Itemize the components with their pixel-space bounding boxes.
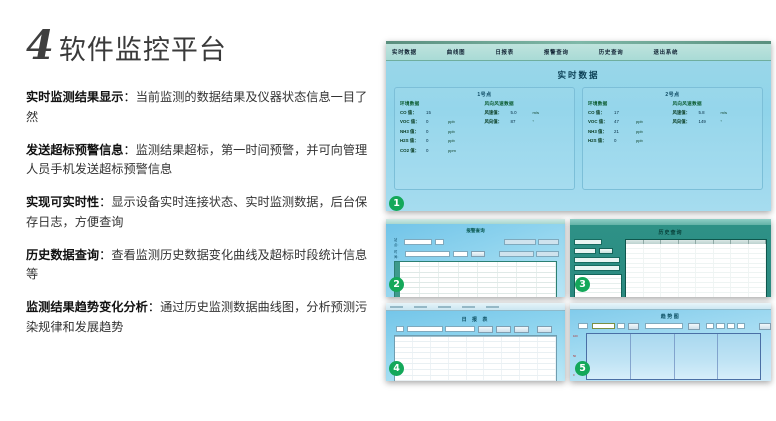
table-cell — [517, 283, 537, 287]
table-cell — [679, 273, 697, 277]
table-cell — [467, 370, 485, 375]
table-cell — [538, 364, 556, 369]
site-name: 2号点 — [588, 91, 757, 98]
table-cell — [749, 268, 767, 272]
data-value: 5.8 — [699, 110, 721, 115]
table-cell — [731, 278, 749, 282]
table-cell — [644, 264, 662, 268]
keyword-input[interactable] — [574, 265, 620, 271]
table-cell — [400, 273, 420, 277]
group-title: 风向风速数据 — [485, 101, 570, 107]
data-row: CO2 值： 0 ppm — [400, 148, 485, 154]
data-row: 风向值： 149 ° — [673, 119, 758, 125]
table-cell — [478, 267, 498, 271]
x-axis-tick: 00:00 — [627, 381, 634, 382]
table-cell — [714, 259, 732, 263]
mode-select[interactable] — [578, 323, 588, 329]
table-cell — [517, 294, 537, 297]
table-cell — [413, 364, 431, 369]
table-cell — [517, 288, 537, 292]
feature-term: 历史数据查询 — [26, 248, 99, 262]
table-cell — [696, 244, 714, 248]
table-cell — [749, 264, 767, 268]
table-cell — [626, 273, 644, 277]
table-cell — [413, 342, 431, 347]
data-unit: ppb — [636, 129, 643, 134]
table-cell — [467, 359, 485, 364]
screenshot-alarm-query[interactable]: 报警查询 站点： 时间： — [386, 219, 565, 297]
table-cell — [449, 342, 467, 347]
feature-item: 发送超标预警信息：监测结果超标，第一时间预警，并可向管理人员手机发送超标预警信息 — [26, 141, 369, 181]
x-axis-tick: 12:00 — [713, 381, 720, 382]
table-cell — [520, 342, 538, 347]
time-unit-select[interactable] — [453, 251, 469, 257]
data-value: 0 — [426, 148, 448, 153]
table-cell — [478, 294, 498, 297]
table-cell — [502, 353, 520, 358]
site-select[interactable] — [574, 239, 602, 245]
table-cell — [498, 283, 518, 287]
alarm-table[interactable] — [394, 261, 557, 297]
table-cell — [431, 364, 449, 369]
date-input[interactable] — [407, 326, 443, 332]
data-label: CO2 值： — [400, 148, 426, 154]
site-card: 2号点 环境数据 CO 值： 17 VOC 值： 47 ppb — [582, 87, 763, 190]
page-title: 4 软件监控平台 — [26, 26, 369, 66]
table-cell — [449, 348, 467, 353]
time-range-input[interactable] — [645, 323, 684, 329]
table-cell — [449, 359, 467, 364]
table-cell — [467, 364, 485, 369]
table-cell — [520, 353, 538, 358]
report-table[interactable] — [394, 335, 557, 381]
trend-chart-plot[interactable]: 100 50 0 00:00 06:00 12:00 18:00 — [586, 333, 761, 380]
table-cell — [413, 370, 431, 375]
series-toggle-1[interactable] — [706, 323, 714, 329]
export-button[interactable] — [496, 326, 511, 333]
table-cell — [502, 376, 520, 381]
table-cell — [644, 293, 662, 297]
data-row: H2S 值： 0 ppb — [588, 138, 673, 144]
data-label: NH3 值： — [400, 129, 426, 135]
menu-item-alarm-query[interactable]: 报警查询 — [544, 48, 569, 56]
close-button[interactable] — [537, 326, 552, 333]
table-cell — [626, 259, 644, 263]
section-number: 4 — [26, 26, 52, 66]
table-cell — [498, 267, 518, 271]
table-cell — [731, 288, 749, 292]
table-cell — [420, 273, 440, 277]
table-cell — [731, 293, 749, 297]
filter-field-b[interactable] — [538, 239, 559, 245]
table-cell — [400, 288, 420, 292]
data-value: 87 — [511, 119, 533, 124]
series-toggle-4[interactable] — [737, 323, 745, 329]
table-cell — [431, 376, 449, 381]
table-cell — [714, 293, 732, 297]
data-label: 风向值： — [673, 119, 699, 125]
table-cell — [661, 288, 679, 292]
data-unit: m/s — [721, 110, 727, 115]
table-cell — [439, 294, 459, 297]
table-cell — [420, 262, 440, 266]
table-cell — [467, 376, 485, 381]
menu-item-daily-report[interactable]: 日报表 — [495, 48, 514, 56]
data-unit: ppb — [448, 119, 455, 124]
data-value: 17 — [614, 110, 636, 115]
table-cell — [731, 268, 749, 272]
table-cell — [439, 288, 459, 292]
menu-item-placeholder-icon — [414, 306, 427, 308]
table-cell — [714, 249, 732, 253]
data-row: CO 值： 17 — [588, 110, 673, 116]
table-cell — [449, 353, 467, 358]
table-cell — [520, 376, 538, 381]
table-cell — [478, 273, 498, 277]
table-cell — [679, 293, 697, 297]
site-name: 1号点 — [400, 91, 569, 98]
table-cell — [714, 244, 732, 248]
table-cell — [644, 259, 662, 263]
table-cell — [498, 294, 518, 297]
query-button[interactable] — [478, 326, 493, 333]
table-cell — [420, 294, 440, 297]
group-title: 环境数据 — [588, 101, 673, 107]
table-cell — [714, 268, 732, 272]
table-cell — [431, 337, 449, 342]
report-type-checkbox[interactable] — [396, 326, 404, 332]
table-cell — [731, 244, 749, 248]
history-table[interactable] — [625, 239, 767, 297]
table-cell — [439, 262, 459, 266]
table-cell — [696, 259, 714, 263]
table-cell — [644, 278, 662, 282]
data-row: NH3 值： 21 ppb — [588, 129, 673, 135]
query-button[interactable] — [599, 248, 613, 255]
table-cell — [626, 288, 644, 292]
table-cell — [537, 267, 557, 271]
table-cell — [749, 259, 767, 263]
table-cell — [400, 262, 420, 266]
table-cell — [395, 348, 413, 353]
feature-separator: ： — [99, 195, 111, 209]
section-title: 软件监控平台 — [59, 37, 227, 64]
table-cell — [395, 376, 413, 381]
menu-item-placeholder-icon — [462, 306, 475, 308]
screenshot-gallery: 实时数据 曲线图 日报表 报警查询 历史查询 退出系统 实时数据 1号点 环境数… — [385, 0, 776, 421]
panel-title: 历史查询 — [570, 225, 771, 236]
table-cell — [431, 370, 449, 375]
refresh-button[interactable] — [628, 323, 639, 330]
screenshot-realtime-data[interactable]: 实时数据 曲线图 日报表 报警查询 历史查询 退出系统 实时数据 1号点 环境数… — [386, 41, 771, 211]
feature-separator: ： — [124, 90, 136, 104]
site-select[interactable] — [445, 326, 475, 332]
table-cell — [484, 342, 502, 347]
table-cell — [484, 364, 502, 369]
table-cell — [439, 273, 459, 277]
wind-data-group: 风向风速数据 风速值： 5.0 m/s 风向值： 87 ° — [485, 101, 570, 157]
table-cell — [749, 288, 767, 292]
table-cell — [696, 273, 714, 277]
table-cell — [731, 254, 749, 258]
table-cell — [498, 278, 518, 282]
table-cell — [537, 278, 557, 282]
data-value: 149 — [699, 119, 721, 124]
table-cell — [644, 288, 662, 292]
grid-line — [630, 334, 631, 379]
menu-bar[interactable] — [386, 219, 565, 224]
feature-term: 发送超标预警信息 — [26, 143, 124, 157]
data-label: H2S 值： — [400, 138, 426, 144]
table-cell — [395, 337, 413, 342]
table-cell — [626, 283, 644, 287]
data-unit: ppm — [448, 148, 456, 153]
table-cell — [420, 278, 440, 282]
table-cell — [679, 268, 697, 272]
table-cell — [502, 370, 520, 375]
site-select[interactable] — [592, 323, 615, 329]
data-value: 15 — [426, 110, 448, 115]
table-cell — [661, 293, 679, 297]
query-button[interactable] — [471, 251, 485, 258]
feature-item: 实时监测结果显示：当前监测的数据结果及仪器状态信息一目了然 — [26, 88, 369, 128]
export-button[interactable] — [759, 323, 771, 330]
table-cell — [538, 348, 556, 353]
menu-bar[interactable]: 实时数据 曲线图 日报表 报警查询 历史查询 退出系统 — [386, 44, 771, 61]
table-cell — [431, 342, 449, 347]
panel-title: 趋势图 — [570, 313, 771, 320]
data-value: 0 — [426, 138, 448, 143]
table-cell — [714, 273, 732, 277]
table-cell — [537, 273, 557, 277]
menu-item-placeholder-icon — [390, 306, 403, 308]
data-label: NH3 值： — [588, 129, 614, 135]
data-label: CO 值： — [588, 110, 614, 116]
query-form[interactable]: 站点： 时间： — [394, 237, 559, 259]
table-cell — [696, 293, 714, 297]
data-unit: ppb — [636, 119, 643, 124]
table-cell — [449, 370, 467, 375]
table-cell — [696, 264, 714, 268]
table-cell — [420, 288, 440, 292]
screenshot-history-query[interactable]: 历史查询 — [570, 219, 771, 297]
table-cell — [679, 283, 697, 287]
menu-item-curve-chart[interactable]: 曲线图 — [447, 48, 466, 56]
table-cell — [626, 249, 644, 253]
menu-item-realtime-data[interactable]: 实时数据 — [392, 48, 417, 56]
menu-item-placeholder-icon — [486, 306, 499, 308]
table-cell — [661, 283, 679, 287]
table-cell — [484, 337, 502, 342]
table-cell — [749, 278, 767, 282]
form-row: 时间： — [394, 249, 559, 259]
grid-line — [674, 334, 675, 379]
table-cell — [661, 264, 679, 268]
panel-title: 日 报 表 — [386, 316, 565, 323]
table-cell — [395, 342, 413, 347]
data-label: VOC 值： — [588, 119, 614, 125]
table-cell — [661, 254, 679, 258]
table-cell — [749, 283, 767, 287]
table-cell — [459, 288, 479, 292]
environment-data-group: 环境数据 CO 值： 15 VOC 值： 0 ppb NH3 值： — [400, 101, 485, 157]
table-cell — [520, 348, 538, 353]
callout-badge-1: 1 — [389, 196, 404, 211]
site-select-arrow[interactable] — [617, 323, 625, 329]
data-row: 风速值： 5.8 m/s — [673, 110, 758, 116]
data-row: VOC 值： 47 ppb — [588, 119, 673, 125]
table-cell — [502, 364, 520, 369]
table-cell — [484, 348, 502, 353]
feature-term: 实时监测结果显示 — [26, 90, 124, 104]
data-unit: ppb — [448, 129, 455, 134]
table-cell — [731, 264, 749, 268]
form-row: 站点： — [394, 237, 559, 247]
menu-item-history-query[interactable]: 历史查询 — [599, 48, 624, 56]
table-cell — [400, 294, 420, 297]
table-cell — [714, 278, 732, 282]
table-cell — [517, 273, 537, 277]
table-cell — [439, 267, 459, 271]
data-unit: ° — [533, 119, 535, 124]
table-cell — [679, 244, 697, 248]
series-toggle-2[interactable] — [716, 323, 724, 329]
feature-item: 监测结果趋势变化分析：通过历史监测数据曲线图，分析预测污染规律和发展趋势 — [26, 298, 369, 338]
table-cell — [538, 342, 556, 347]
table-cell — [661, 259, 679, 263]
group-title: 风向风速数据 — [673, 101, 758, 107]
table-cell — [459, 283, 479, 287]
table-row[interactable] — [395, 376, 556, 381]
table-cell — [644, 283, 662, 287]
table-cell — [502, 359, 520, 364]
table-cell — [517, 267, 537, 271]
menu-bar[interactable] — [570, 303, 771, 310]
table-cell — [644, 273, 662, 277]
table-cell — [484, 376, 502, 381]
table-cell — [538, 337, 556, 342]
y-axis-tick: 0 — [573, 373, 575, 377]
data-label: VOC 值： — [400, 119, 426, 125]
print-button[interactable] — [514, 326, 529, 333]
site-card: 1号点 环境数据 CO 值： 15 VOC 值： 0 ppb — [394, 87, 575, 190]
filter-field-d[interactable] — [536, 251, 559, 257]
table-cell — [661, 268, 679, 272]
table-cell — [679, 259, 697, 263]
table-cell — [661, 249, 679, 253]
data-value: 5.0 — [511, 110, 533, 115]
table-cell — [478, 262, 498, 266]
site-select-arrow[interactable] — [435, 239, 444, 245]
data-value: 47 — [614, 119, 636, 124]
table-cell — [517, 278, 537, 282]
table-cell — [498, 288, 518, 292]
query-button[interactable] — [688, 323, 700, 330]
table-cell — [714, 254, 732, 258]
chart-toolbar[interactable] — [578, 323, 771, 330]
table-cell — [679, 249, 697, 253]
y-axis-tick: 50 — [573, 354, 576, 358]
list-item[interactable] — [575, 293, 621, 297]
menu-item-placeholder-icon — [438, 306, 451, 308]
panel-title: 实时数据 — [386, 69, 771, 81]
table-cell — [502, 342, 520, 347]
table-cell — [626, 264, 644, 268]
table-cell — [420, 267, 440, 271]
x-axis-tick: 18:00 — [757, 381, 764, 382]
site-panels: 1号点 环境数据 CO 值： 15 VOC 值： 0 ppb — [386, 81, 771, 190]
filter-field-a[interactable] — [504, 239, 536, 245]
table-cell — [478, 278, 498, 282]
form-label: 时间： — [394, 249, 403, 259]
table-cell — [537, 283, 557, 287]
wind-data-group: 风向风速数据 风速值： 5.8 m/s 风向值： 149 ° — [673, 101, 758, 148]
table-cell — [661, 244, 679, 248]
table-cell — [626, 254, 644, 258]
table-cell — [459, 278, 479, 282]
series-toggle-3[interactable] — [727, 323, 735, 329]
table-cell — [696, 268, 714, 272]
screenshot-trend-chart[interactable]: 趋势图 100 50 0 00:00 06:00 12:00 18:00 — [570, 303, 771, 381]
table-cell — [731, 249, 749, 253]
table-cell — [537, 262, 557, 266]
table-row[interactable] — [400, 294, 556, 297]
table-cell — [626, 244, 644, 248]
table-body — [395, 337, 556, 382]
table-cell — [731, 259, 749, 263]
y-axis-tick: 100 — [573, 334, 578, 338]
table-cell — [439, 283, 459, 287]
feature-term: 实现可实时性 — [26, 195, 99, 209]
table-cell — [459, 262, 479, 266]
menu-bar[interactable] — [386, 303, 565, 311]
table-cell — [749, 273, 767, 277]
table-cell — [749, 293, 767, 297]
feature-item: 历史数据查询：查看监测历史数据变化曲线及超标时段统计信息等 — [26, 246, 369, 286]
data-row: H2S 值： 0 ppb — [400, 138, 485, 144]
form-label: 站点： — [394, 237, 402, 247]
data-label: 风向值： — [485, 119, 511, 125]
table-row[interactable] — [626, 293, 766, 297]
table-cell — [413, 348, 431, 353]
report-toolbar[interactable] — [396, 326, 565, 333]
table-cell — [537, 288, 557, 292]
date-end-input[interactable] — [574, 257, 620, 263]
callout-badge-5: 5 — [575, 361, 590, 376]
table-cell — [439, 278, 459, 282]
data-label: H2S 值： — [588, 138, 614, 144]
time-range-input[interactable] — [405, 251, 450, 257]
table-cell — [661, 278, 679, 282]
table-cell — [661, 273, 679, 277]
site-select[interactable] — [404, 239, 432, 245]
table-cell — [467, 337, 485, 342]
table-cell — [484, 353, 502, 358]
data-row: 风速值： 5.0 m/s — [485, 110, 570, 116]
table-cell — [714, 264, 732, 268]
table-cell — [449, 376, 467, 381]
screenshot-daily-report[interactable]: 日 报 表 — [386, 303, 565, 381]
data-label: 风速值： — [673, 110, 699, 116]
table-cell — [731, 273, 749, 277]
menu-item-exit-system[interactable]: 退出系统 — [653, 48, 678, 56]
date-start-input[interactable] — [574, 248, 596, 254]
table-cell — [644, 249, 662, 253]
table-cell — [467, 348, 485, 353]
table-cell — [413, 337, 431, 342]
table-cell — [538, 353, 556, 358]
filter-field-c[interactable] — [499, 251, 534, 257]
